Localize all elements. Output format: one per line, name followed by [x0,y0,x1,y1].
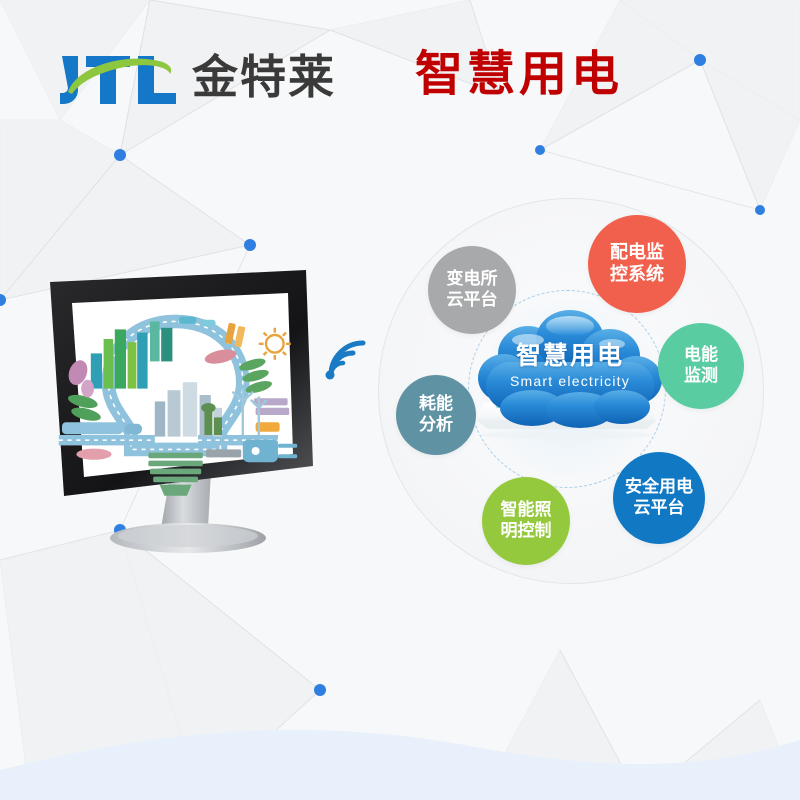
bubble-zhineng-line1: 智能照 [501,500,552,521]
brand-logo: 金特莱 [58,46,336,108]
header: 金特莱 智慧用电 [0,0,800,150]
bubble-biandian-line1: 变电所 [447,269,498,290]
bubble-peidian-line1: 配电监 [610,242,664,264]
smart-electricity-diagram: 智慧用电 Smart electricity 配电监 控系统 电能 监测 安全用… [370,190,770,590]
bubble-haoneng-line1: 耗能 [419,394,453,415]
brand-name-cn: 金特莱 [192,54,336,100]
bubble-anquan-line2: 云平台 [634,498,685,519]
bubble-dianneng-line1: 电能 [684,345,718,366]
desktop-monitor [48,270,338,560]
bubble-anquan-line1: 安全用电 [625,477,693,498]
bubble-zhineng-line2: 明控制 [501,521,552,542]
bubble-dianneng-line2: 监测 [684,366,718,387]
bubble-haoneng-fenxi[interactable]: 耗能 分析 [396,375,476,455]
bubble-biandiansuo-yuntai[interactable]: 变电所 云平台 [428,246,516,334]
bubble-peidian-jiankong[interactable]: 配电监 控系统 [588,215,686,313]
poster-canvas: 金特莱 智慧用电 [0,0,800,800]
bubble-zhineng-zhaoming[interactable]: 智能照 明控制 [482,477,570,565]
page-title: 智慧用电 [415,50,623,98]
bubble-haoneng-line2: 分析 [419,415,453,436]
cloud-shape [470,308,670,438]
bubble-dianneng-jiance[interactable]: 电能 监测 [658,323,744,409]
bottom-wave [0,620,800,800]
bubble-biandian-line2: 云平台 [447,290,498,311]
bubble-anquan-yongdian[interactable]: 安全用电 云平台 [613,452,705,544]
wifi-signal-icon [318,333,374,389]
bubble-peidian-line2: 控系统 [610,264,664,286]
jtl-logo-mark [58,46,178,108]
